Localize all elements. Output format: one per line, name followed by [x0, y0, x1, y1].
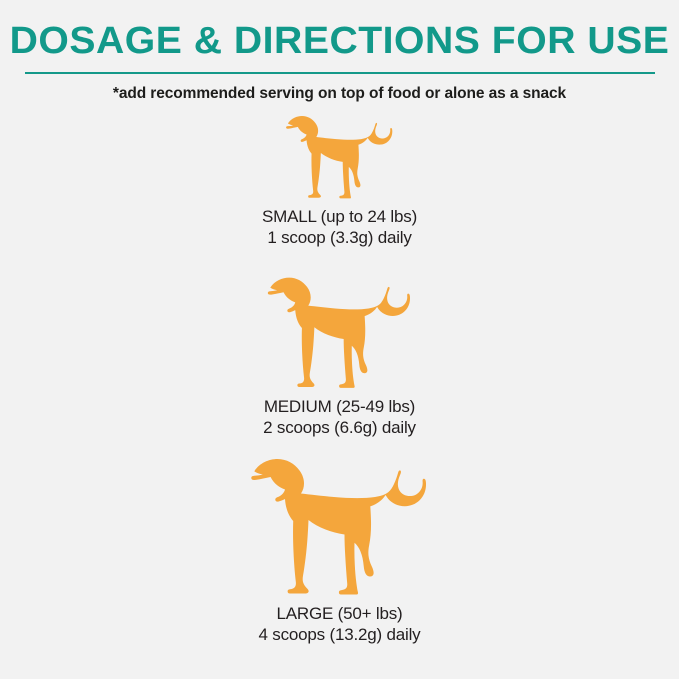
- dose-size-label-medium: MEDIUM (25-49 lbs): [0, 396, 679, 417]
- title-divider: [25, 72, 655, 74]
- dog-silhouette-icon: [0, 114, 679, 200]
- page-title: DOSAGE & DIRECTIONS FOR USE: [0, 0, 679, 60]
- header: DOSAGE & DIRECTIONS FOR USE *add recomme…: [0, 0, 679, 103]
- dose-serving-label-medium: 2 scoops (6.6g) daily: [0, 417, 679, 438]
- page-subtitle: *add recommended serving on top of food …: [0, 85, 679, 103]
- dog-silhouette-icon: [0, 456, 679, 597]
- dosage-directions-infographic: DOSAGE & DIRECTIONS FOR USE *add recomme…: [0, 0, 679, 679]
- dose-caption-large: LARGE (50+ lbs) 4 scoops (13.2g) daily: [0, 603, 679, 645]
- dose-caption-small: SMALL (up to 24 lbs) 1 scoop (3.3g) dail…: [0, 206, 679, 248]
- dose-row-large: LARGE (50+ lbs) 4 scoops (13.2g) daily: [0, 456, 679, 645]
- dose-row-small: SMALL (up to 24 lbs) 1 scoop (3.3g) dail…: [0, 114, 679, 248]
- dose-size-label-large: LARGE (50+ lbs): [0, 603, 679, 624]
- dose-serving-label-large: 4 scoops (13.2g) daily: [0, 624, 679, 645]
- dose-row-medium: MEDIUM (25-49 lbs) 2 scoops (6.6g) daily: [0, 275, 679, 438]
- dose-caption-medium: MEDIUM (25-49 lbs) 2 scoops (6.6g) daily: [0, 396, 679, 438]
- dose-size-label-small: SMALL (up to 24 lbs): [0, 206, 679, 227]
- dog-silhouette-icon: [0, 275, 679, 390]
- dose-serving-label-small: 1 scoop (3.3g) daily: [0, 227, 679, 248]
